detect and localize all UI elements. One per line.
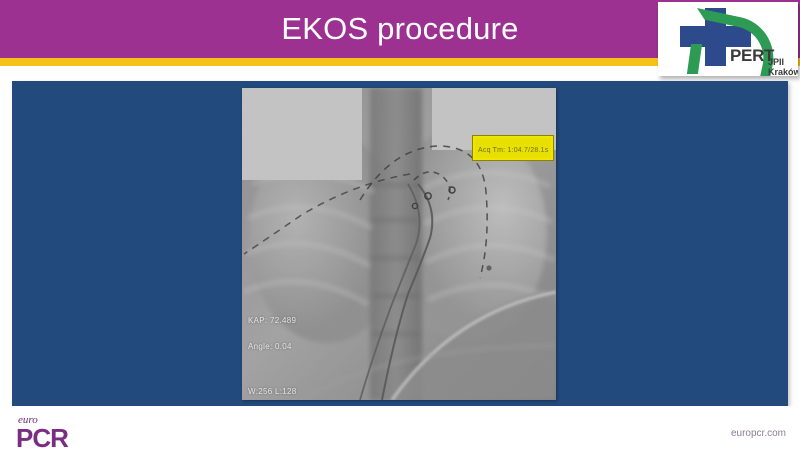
- acquisition-time-text: Acq Tm: 1:04.7/28.1s: [478, 147, 548, 154]
- kap-readout: KAP: 72.489: [248, 316, 296, 325]
- footer-url: europcr.com: [731, 428, 786, 439]
- window-level-readout: W:256 L:128: [248, 387, 297, 396]
- angle-readout: Angle: 0.04: [248, 342, 292, 351]
- footer: [0, 406, 800, 450]
- acquisition-time-highlight: Acq Tm: 1:04.7/28.1s: [473, 136, 553, 160]
- europcr-logo-bottom: PCR: [16, 423, 68, 454]
- xray-graphic: [242, 88, 556, 400]
- fluoroscopy-image: KAP: 72.489 Angle: 0.04 W:256 L:128 Acq …: [242, 88, 556, 400]
- logo-subtitle: JPII Kraków: [768, 57, 798, 76]
- pert-logo: PERT JPII Kraków: [658, 2, 798, 76]
